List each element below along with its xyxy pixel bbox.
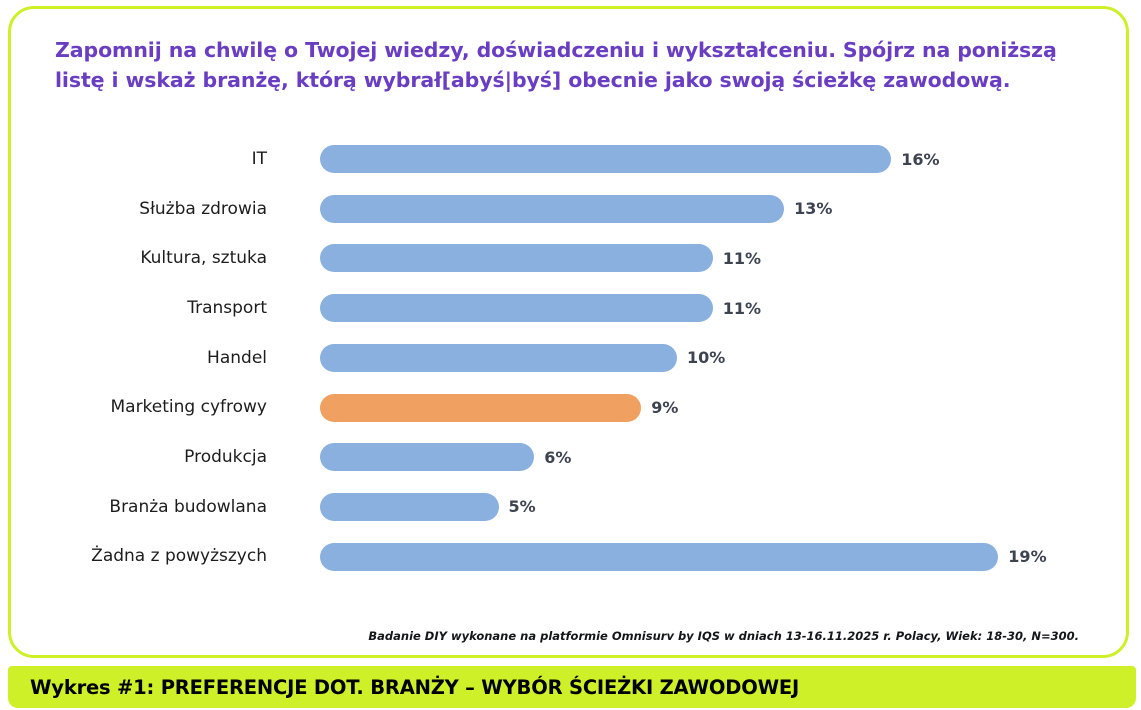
bar-value-label: 11% bbox=[723, 295, 761, 321]
bar bbox=[320, 195, 784, 223]
chart-row: Branża budowlana5% bbox=[11, 482, 1132, 532]
bar bbox=[320, 145, 891, 173]
chart-row: Żadna z powyższych19% bbox=[11, 532, 1132, 582]
bar-chart: IT16%Służba zdrowia13%Kultura, sztuka11%… bbox=[11, 134, 1132, 599]
bar-value-label: 19% bbox=[1008, 544, 1046, 570]
chart-row: IT16% bbox=[11, 134, 1132, 184]
bar-track: 11% bbox=[320, 283, 1132, 333]
bar-track: 9% bbox=[320, 383, 1132, 433]
bar-value-label: 13% bbox=[794, 196, 832, 222]
slide-canvas: Zapomnij na chwilę o Twojej wiedzy, dośw… bbox=[0, 0, 1141, 710]
bar-track: 11% bbox=[320, 233, 1132, 283]
bar bbox=[320, 344, 677, 372]
category-label: Kultura, sztuka bbox=[11, 233, 281, 283]
chart-row: Kultura, sztuka11% bbox=[11, 233, 1132, 283]
category-label: Transport bbox=[11, 283, 281, 333]
bar bbox=[320, 493, 499, 521]
bar-value-label: 16% bbox=[901, 146, 939, 172]
chart-row: Handel10% bbox=[11, 333, 1132, 383]
bar-track: 16% bbox=[320, 134, 1132, 184]
category-label: Branża budowlana bbox=[11, 482, 281, 532]
category-label: Służba zdrowia bbox=[11, 184, 281, 234]
chart-card: Zapomnij na chwilę o Twojej wiedzy, dośw… bbox=[8, 6, 1129, 658]
category-label: Produkcja bbox=[11, 432, 281, 482]
bar-track: 5% bbox=[320, 482, 1132, 532]
chart-row: Służba zdrowia13% bbox=[11, 184, 1132, 234]
page-title: Zapomnij na chwilę o Twojej wiedzy, dośw… bbox=[55, 35, 1085, 95]
bar-value-label: 9% bbox=[651, 395, 678, 421]
bar-value-label: 5% bbox=[509, 494, 536, 520]
bar-track: 13% bbox=[320, 184, 1132, 234]
chart-footnote: Badanie DIY wykonane na platformie Omnis… bbox=[11, 629, 1111, 643]
bar-value-label: 6% bbox=[544, 444, 571, 470]
category-label: IT bbox=[11, 134, 281, 184]
chart-row: Transport11% bbox=[11, 283, 1132, 333]
category-label: Handel bbox=[11, 333, 281, 383]
bar-track: 19% bbox=[320, 532, 1132, 582]
category-label: Marketing cyfrowy bbox=[11, 383, 281, 433]
bar bbox=[320, 394, 641, 422]
chart-row: Marketing cyfrowy9% bbox=[11, 383, 1132, 433]
bottom-banner: Wykres #1: PREFERENCJE DOT. BRANŻY – WYB… bbox=[8, 666, 1136, 708]
chart-row: Produkcja6% bbox=[11, 432, 1132, 482]
category-label: Żadna z powyższych bbox=[11, 532, 281, 582]
bar-track: 6% bbox=[320, 432, 1132, 482]
bar bbox=[320, 244, 713, 272]
bar-value-label: 10% bbox=[687, 345, 725, 371]
bar bbox=[320, 443, 534, 471]
page-title-line-1: Zapomnij na chwilę o Twojej wiedzy, dośw… bbox=[55, 35, 1085, 65]
bottom-banner-label: Wykres #1: PREFERENCJE DOT. BRANŻY – WYB… bbox=[8, 676, 799, 699]
bar bbox=[320, 294, 713, 322]
page-title-line-2: listę i wskaż branżę, którą wybrał[abyś|… bbox=[55, 65, 1085, 95]
bar-value-label: 11% bbox=[723, 245, 761, 271]
bar bbox=[320, 543, 998, 571]
bar-track: 10% bbox=[320, 333, 1132, 383]
